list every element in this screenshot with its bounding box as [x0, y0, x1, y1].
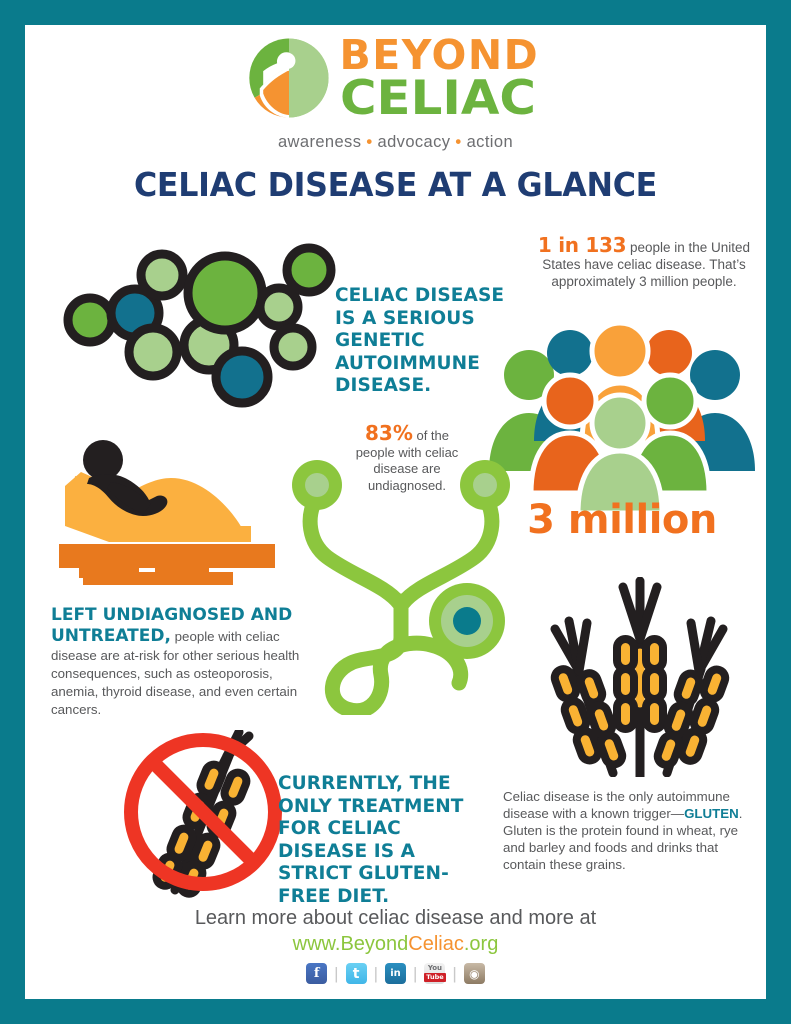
undiagnosed-block: LEFT UNDIAGNOSED AND UNTREATED, people w… [51, 605, 303, 719]
wheat-stalks-icon [535, 577, 745, 777]
instagram-icon[interactable]: ◉ [464, 963, 485, 984]
footer: Learn more about celiac disease and more… [25, 905, 766, 957]
tagline-sep-1: • [366, 133, 372, 151]
social-separator-4: | [445, 964, 463, 984]
url-part-green-2: .org [464, 933, 498, 955]
dna-molecule-icon [57, 225, 347, 415]
url-part-green-1: www.Beyond [293, 933, 409, 955]
website-url-link[interactable]: www.BeyondCeliac.org [25, 931, 766, 957]
undiagnosed-stat: 83% of the people with celiac disease ar… [347, 425, 467, 494]
logo-word-celiac: CELIAC [340, 77, 558, 121]
linkedin-glyph: in [390, 969, 401, 979]
youtube-glyph-bottom: Tube [424, 973, 445, 982]
treatment-statement: CURRENTLY, THE ONLY TREATMENT FOR CELIAC… [278, 773, 493, 908]
twitter-glyph: t [353, 967, 360, 981]
no-gluten-wheat-icon [115, 730, 300, 900]
youtube-glyph-top: You [428, 965, 442, 972]
social-separator-2: | [367, 964, 385, 984]
tagline-sep-2: • [455, 133, 461, 151]
prevalence-stat: 1 in 133 people in the United States hav… [530, 237, 758, 290]
undiagnosed-number: 83% [365, 421, 413, 445]
poster-frame: BEYOND CELIAC awareness • advocacy • act… [0, 0, 791, 1024]
page-title: CELIAC DISEASE AT A GLANCE [40, 165, 751, 204]
instagram-glyph: ◉ [469, 968, 479, 980]
youtube-icon[interactable]: You Tube [424, 963, 445, 984]
infographic-sheet: BEYOND CELIAC awareness • advocacy • act… [25, 25, 766, 999]
tagline-advocacy: advocacy [378, 133, 451, 151]
tagline-action: action [467, 133, 513, 151]
beyond-celiac-circle-person-logo [246, 35, 332, 121]
gluten-highlight: GLUTEN [684, 806, 739, 821]
facebook-glyph: f [314, 967, 320, 980]
social-links: f | t | in | You Tube | ◉ [25, 963, 766, 984]
gluten-paragraph: Celiac disease is the only autoimmune di… [503, 788, 751, 873]
facebook-icon[interactable]: f [306, 963, 327, 984]
twitter-icon[interactable]: t [346, 963, 367, 984]
logo-tagline: awareness • advocacy • action [246, 133, 546, 152]
linkedin-icon[interactable]: in [385, 963, 406, 984]
url-part-orange: Celiac [408, 933, 464, 955]
prevalence-number: 1 in 133 [538, 233, 626, 257]
footer-learn-more: Learn more about celiac disease and more… [25, 905, 766, 931]
tagline-awareness: awareness [278, 133, 361, 151]
social-separator-3: | [406, 964, 424, 984]
logo-block: BEYOND CELIAC awareness • advocacy • act… [25, 33, 766, 161]
patient-on-exam-table-icon [51, 430, 291, 585]
social-separator-1: | [327, 964, 345, 984]
